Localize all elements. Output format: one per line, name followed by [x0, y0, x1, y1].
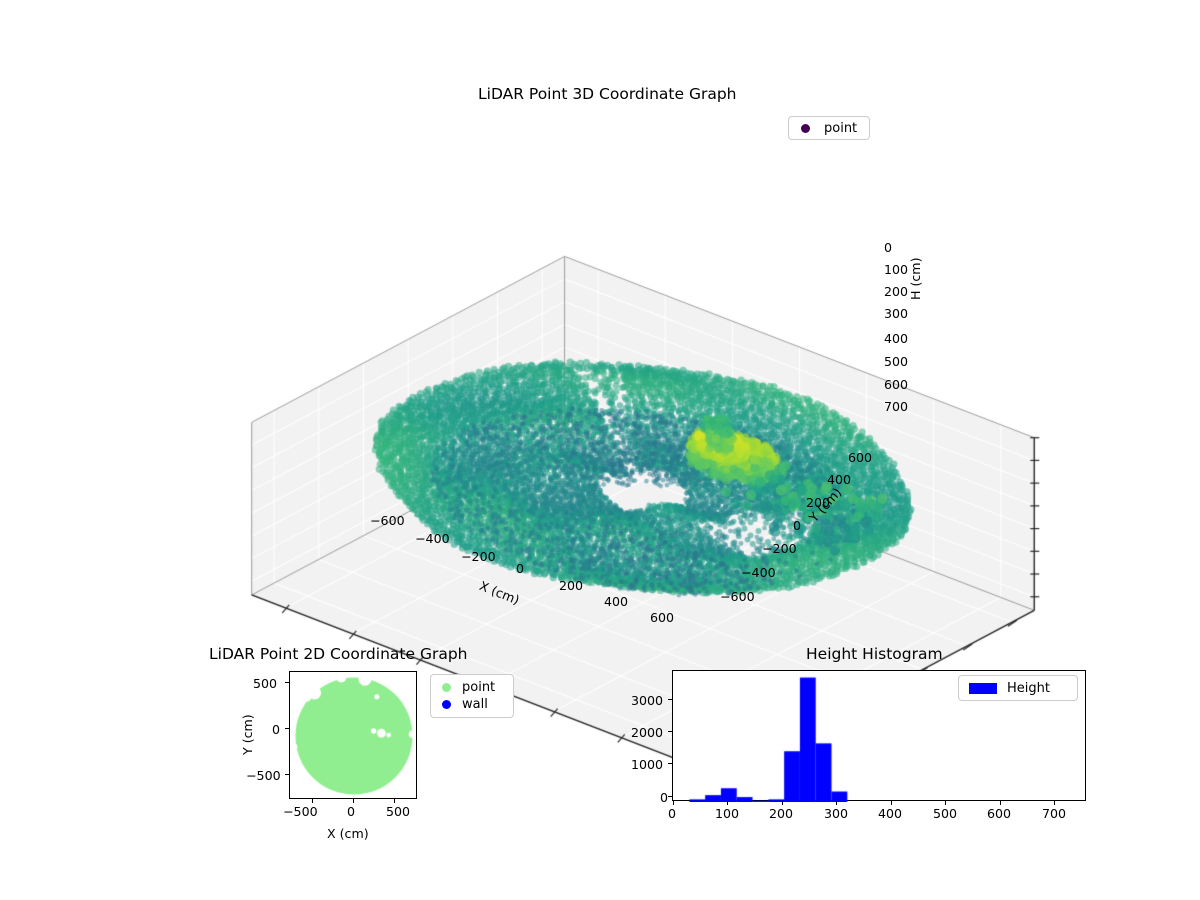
y-tick-400: 400	[827, 472, 851, 487]
legend-label-wall: wall	[462, 697, 488, 712]
z-tick-600: 600	[884, 377, 908, 392]
scatter2d-x-tick-0: 0	[347, 804, 355, 819]
scatter2d-y-tickmark-500	[285, 682, 289, 683]
hist-y-tick-0: 0	[660, 790, 668, 805]
matplotlib-figure: LiDAR Point 3D Coordinate Graph point 0 …	[0, 0, 1200, 900]
hist-x-tick-700: 700	[1042, 806, 1066, 821]
legend-item-point: point	[797, 121, 861, 136]
z-tick-0: 0	[884, 240, 892, 255]
z-tick-100: 100	[884, 262, 908, 277]
hist-x-tickmark-500	[945, 801, 946, 805]
z-tick-200: 200	[884, 284, 908, 299]
hist-x-tick-500: 500	[933, 806, 957, 821]
x-tick-400: 400	[604, 594, 628, 609]
scatter2d-y-tickmark-n500	[285, 774, 289, 775]
point-marker-icon	[801, 124, 810, 133]
hist-x-tick-200: 200	[769, 806, 793, 821]
z-tick-300: 300	[884, 306, 908, 321]
hist-y-tick-3000: 3000	[631, 693, 663, 708]
height-patch-icon	[969, 683, 997, 694]
scatter2d-y-axis-label: Y (cm)	[240, 714, 255, 755]
hist-x-tick-0: 0	[668, 806, 676, 821]
scatter2d-title: LiDAR Point 2D Coordinate Graph	[209, 645, 467, 663]
scatter2d-point-cloud[interactable]	[290, 672, 418, 800]
wall-marker-icon	[442, 700, 451, 709]
scatter3d-legend[interactable]: point	[788, 116, 870, 140]
scatter2d-axes[interactable]	[289, 671, 417, 799]
hist-x-tickmark-400	[891, 801, 892, 805]
hist-x-tick-100: 100	[715, 806, 739, 821]
hist-x-tickmark-100	[727, 801, 728, 805]
legend-label-point: point	[462, 680, 495, 695]
y-tick-600: 600	[848, 450, 872, 465]
legend-label-point: point	[824, 121, 857, 136]
hist-y-tickmark-2000	[668, 731, 672, 732]
x-tick-0: 0	[516, 561, 524, 576]
scatter2d-y-tick-500: 500	[253, 676, 277, 691]
hist-x-tick-300: 300	[824, 806, 848, 821]
hist-x-tickmark-0	[673, 801, 674, 805]
scatter2d-y-tickmark-0	[285, 728, 289, 729]
hist-y-tickmark-1000	[668, 763, 672, 764]
histogram-legend[interactable]: Height	[958, 675, 1078, 701]
legend-item-wall: wall	[439, 696, 505, 713]
scatter2d-y-tick-n500: −500	[246, 768, 281, 783]
z-tick-700: 700	[884, 399, 908, 414]
scatter2d-x-axis-label: X (cm)	[327, 826, 369, 841]
hist-x-tickmark-700	[1054, 801, 1055, 805]
hist-x-tickmark-300	[836, 801, 837, 805]
hist-y-tickmark-0	[668, 796, 672, 797]
x-tick-n400: −400	[415, 531, 450, 546]
y-tick-n600: −600	[720, 589, 755, 604]
hist-x-tickmark-200	[782, 801, 783, 805]
scatter2d-y-tick-0: 0	[272, 722, 280, 737]
x-tick-n200: −200	[461, 549, 496, 564]
y-tick-n400: −400	[741, 565, 776, 580]
histogram-title: Height Histogram	[806, 645, 943, 663]
legend-item-height: Height	[967, 680, 1069, 696]
point-marker-icon	[442, 683, 451, 692]
hist-y-tick-1000: 1000	[631, 757, 663, 772]
hist-x-tickmark-600	[1000, 801, 1001, 805]
scatter2d-x-tickmark-500	[394, 799, 395, 803]
hist-x-tick-600: 600	[987, 806, 1011, 821]
z-axis-label: H (cm)	[908, 258, 923, 301]
scatter2d-legend[interactable]: point wall	[430, 674, 514, 718]
hist-x-tick-400: 400	[878, 806, 902, 821]
legend-label-height: Height	[1007, 681, 1050, 696]
x-tick-600: 600	[650, 610, 674, 625]
scatter2d-x-tickmark-n500	[312, 799, 313, 803]
scatter2d-x-tickmark-0	[353, 799, 354, 803]
hist-y-tick-2000: 2000	[631, 725, 663, 740]
z-tick-500: 500	[884, 354, 908, 369]
scatter2d-x-tick-500: 500	[386, 804, 410, 819]
y-tick-0: 0	[793, 518, 801, 533]
legend-item-point: point	[439, 679, 505, 696]
x-tick-n600: −600	[370, 513, 405, 528]
y-tick-n200: −200	[762, 541, 797, 556]
scatter2d-x-tick-n500: −500	[283, 804, 318, 819]
hist-y-tickmark-3000	[668, 699, 672, 700]
z-tick-400: 400	[884, 331, 908, 346]
x-tick-200: 200	[559, 578, 583, 593]
